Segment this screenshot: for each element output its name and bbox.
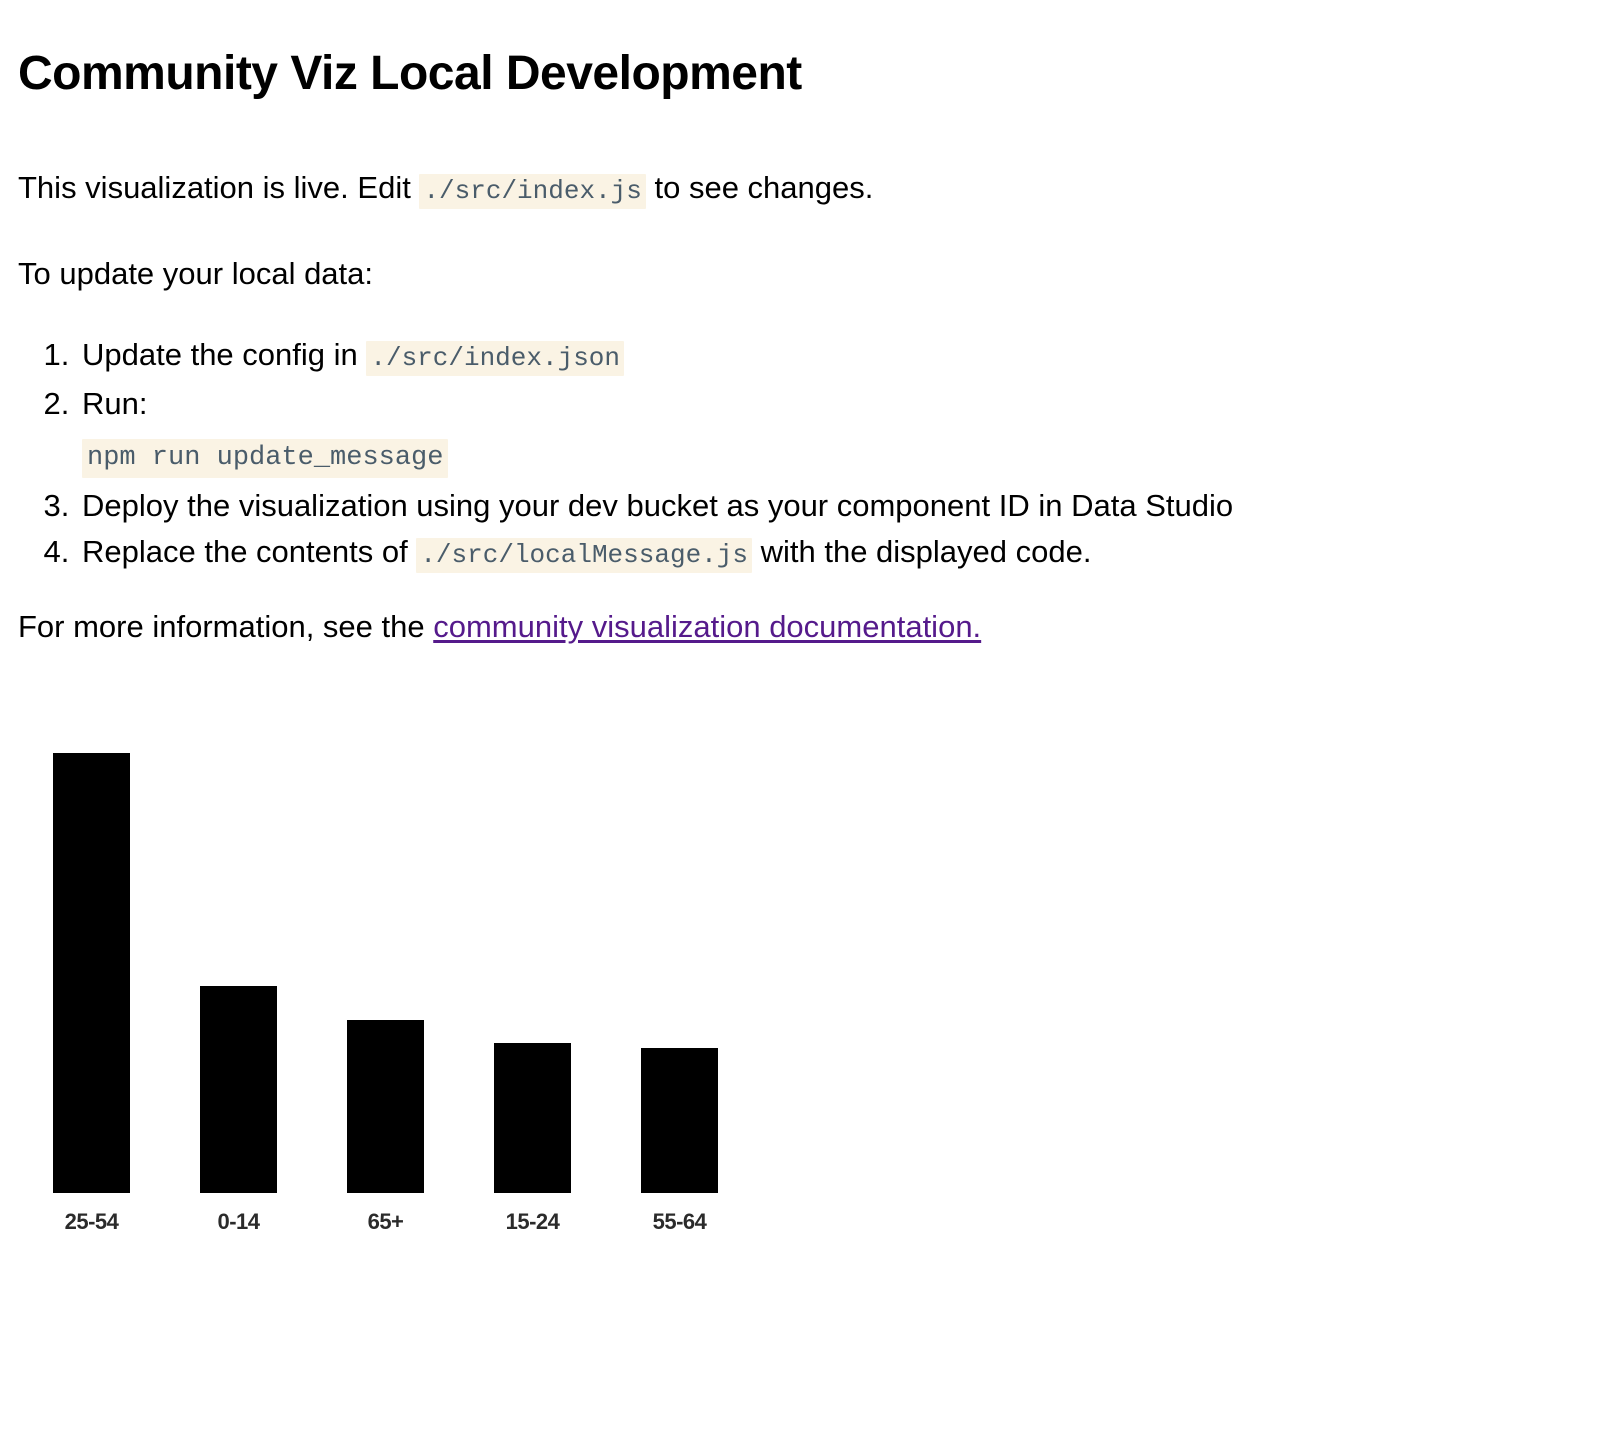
list-item: Deploy the visualization using your dev … (78, 483, 1233, 529)
code-index-js: ./src/index.js (419, 174, 645, 209)
step-4-text-after: with the displayed code. (752, 534, 1092, 569)
intro-text-before: This visualization is live. Edit (18, 170, 419, 205)
bar-15-24[interactable] (494, 1043, 571, 1193)
more-info-paragraph: For more information, see the community … (18, 605, 981, 649)
page-root: Community Viz Local Development This vis… (0, 0, 1600, 1435)
page-title: Community Viz Local Development (18, 46, 802, 102)
bar-label-0-14: 0-14 (200, 1209, 277, 1235)
step-4-text-before: Replace the contents of (82, 534, 416, 569)
list-item: Replace the contents of ./src/localMessa… (78, 529, 1233, 578)
bar-label-65+: 65+ (347, 1209, 424, 1235)
list-item: Update the config in ./src/index.json (78, 332, 1233, 381)
bar-label-55-64: 55-64 (641, 1209, 718, 1235)
update-lead-paragraph: To update your local data: (18, 252, 373, 296)
command-block: npm run update_message (82, 431, 1233, 481)
community-visualization-documentation-link[interactable]: community visualization documentation. (433, 609, 981, 644)
bar-55-64[interactable] (641, 1048, 718, 1193)
code-local-message-js: ./src/localMessage.js (416, 538, 752, 573)
bar-chart: 25-540-1465+15-2455-64 (0, 700, 800, 1260)
step-1-text: Update the config in (82, 337, 366, 372)
intro-paragraph: This visualization is live. Edit ./src/i… (18, 166, 873, 213)
bar-label-25-54: 25-54 (53, 1209, 130, 1235)
code-index-json: ./src/index.json (366, 341, 624, 376)
bar-0-14[interactable] (200, 986, 277, 1193)
bar-25-54[interactable] (53, 753, 130, 1193)
chart-plot-area: 25-540-1465+15-2455-64 (0, 700, 800, 1200)
list-item: Run: npm run update_message (78, 381, 1233, 481)
update-steps-list: Update the config in ./src/index.json Ru… (18, 332, 1233, 578)
intro-text-after: to see changes. (646, 170, 874, 205)
more-info-text: For more information, see the (18, 609, 433, 644)
bar-label-15-24: 15-24 (494, 1209, 571, 1235)
code-npm-run-update-message: npm run update_message (82, 439, 448, 478)
step-2-text: Run: (82, 386, 147, 421)
bar-65+[interactable] (347, 1020, 424, 1193)
step-3-text: Deploy the visualization using your dev … (82, 488, 1233, 523)
